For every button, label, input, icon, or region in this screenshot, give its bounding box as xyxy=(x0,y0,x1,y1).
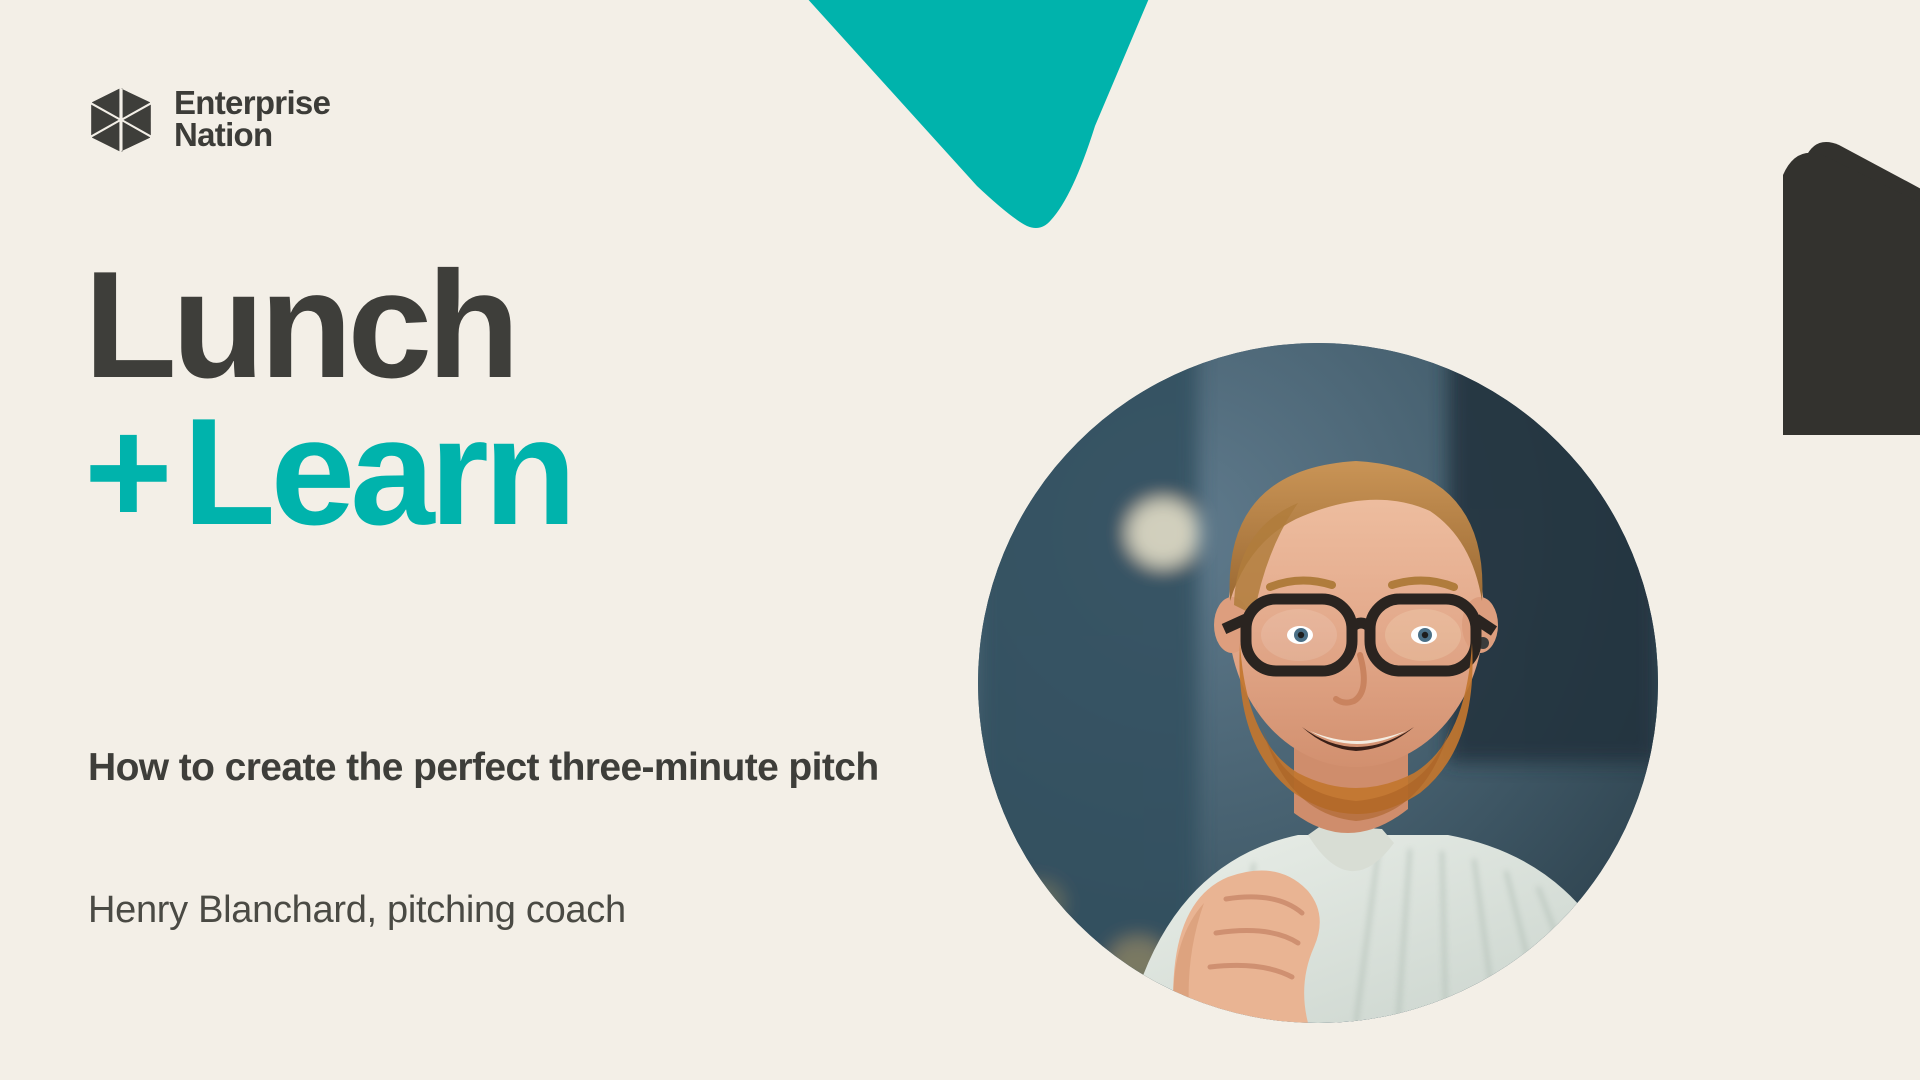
enterprise-nation-hexagon-icon xyxy=(88,84,154,154)
headline-learn-word: Learn xyxy=(183,387,572,557)
brand-name-line-2: Nation xyxy=(174,119,330,151)
speaker-portrait-photo xyxy=(978,343,1658,1023)
speaker-credit: Henry Blanchard, pitching coach xyxy=(88,888,948,934)
session-title: How to create the perfect three-minute p… xyxy=(88,740,918,797)
headline-line-lunch: Lunch xyxy=(84,252,1024,399)
teal-triangle-shape xyxy=(805,0,1150,246)
brand-wordmark: Enterprise Nation xyxy=(174,87,330,152)
headline-line-learn: +Learn xyxy=(84,399,1024,546)
dark-corner-shape xyxy=(1775,95,1920,435)
brand-name-line-1: Enterprise xyxy=(174,87,330,119)
headline-plus-sign: + xyxy=(84,387,183,557)
page-title: Lunch +Learn xyxy=(84,252,1024,547)
promo-graphic-canvas: Enterprise Nation Lunch +Learn How to cr… xyxy=(0,0,1920,1080)
brand-logo: Enterprise Nation xyxy=(88,84,330,154)
